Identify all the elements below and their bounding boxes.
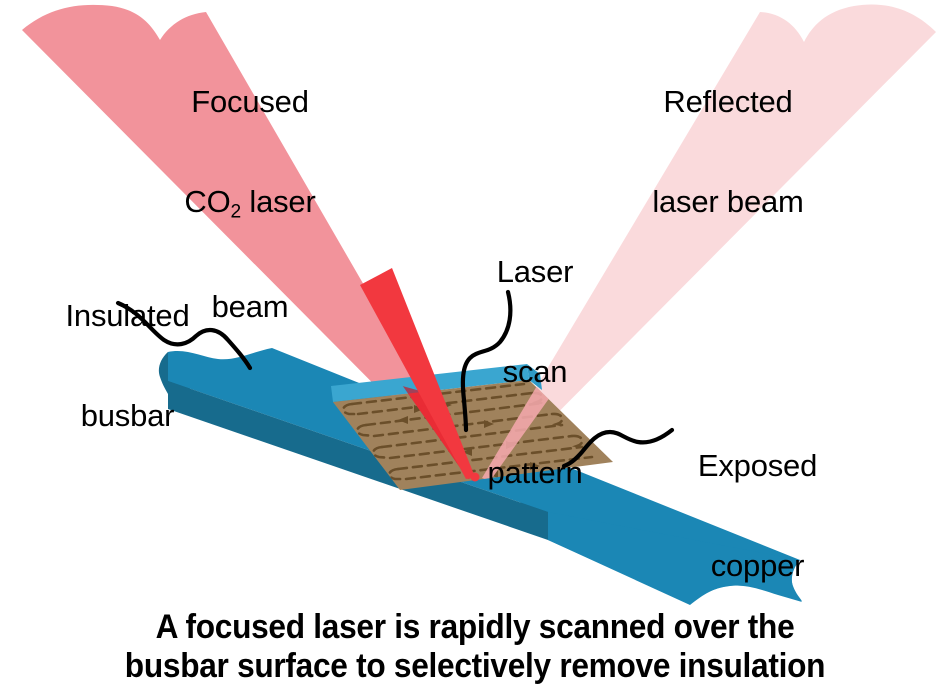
scan-pattern-line2: scan [455,355,615,388]
reflected-beam-line2: laser beam [613,185,843,218]
focused-beam-line2: CO2 laser [150,185,350,223]
figure-caption: A focused laser is rapidly scanned over … [33,608,917,687]
figure-root: Focused CO2 laser beam Reflected laser b… [0,0,950,700]
focused-beam-line1: Focused [150,85,350,118]
exposed-copper-line2: copper [660,549,855,582]
scan-pattern-line3: pattern [455,456,615,489]
caption-line-2: busbar surface to selectively remove ins… [33,647,917,686]
label-laser-scan-pattern: Laser scan pattern [455,188,615,556]
co2-text: CO [184,184,230,219]
scan-pattern-line1: Laser [455,255,615,288]
label-reflected-laser-beam: Reflected laser beam [613,18,843,286]
insulated-busbar-line2: busbar [25,399,230,432]
reflected-beam-line1: Reflected [613,85,843,118]
exposed-copper-line1: Exposed [660,449,855,482]
caption-line-1: A focused laser is rapidly scanned over … [33,608,917,647]
label-insulated-busbar: Insulated busbar [25,232,230,500]
insulated-busbar-line1: Insulated [25,299,230,332]
laser-word: laser [241,184,316,219]
co2-subscript: 2 [231,202,241,223]
